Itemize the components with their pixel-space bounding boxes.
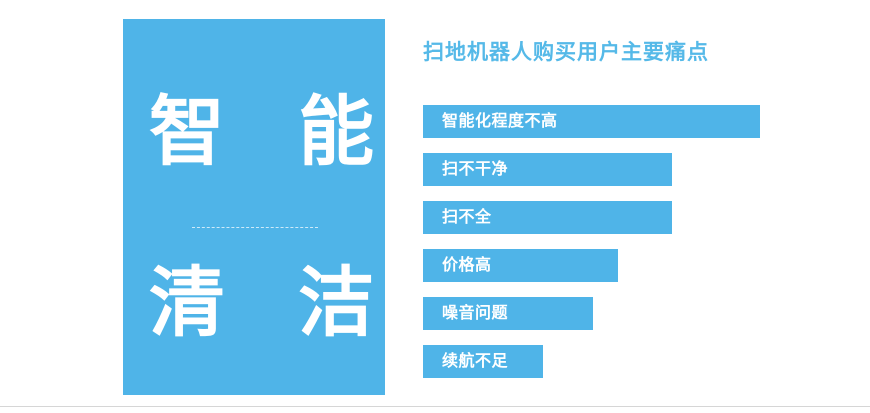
bar-续航不足: 续航不足 <box>423 345 543 378</box>
bar-label: 扫不干净 <box>423 162 508 178</box>
bar-噪音问题: 噪音问题 <box>423 297 593 330</box>
bar-row: 扫不全 <box>423 201 823 234</box>
bar-row: 续航不足 <box>423 345 823 378</box>
bar-chart: 智能化程度不高 扫不干净 扫不全 价格高 噪音问题 续航不足 <box>423 105 823 393</box>
bar-label: 扫不全 <box>423 210 492 226</box>
hero-panel: 智 能 清 洁 <box>123 19 385 395</box>
bottom-divider-rule <box>0 406 870 407</box>
bar-row: 价格高 <box>423 249 823 282</box>
bar-label: 噪音问题 <box>423 306 508 322</box>
bar-扫不干净: 扫不干净 <box>423 153 672 186</box>
bar-row: 智能化程度不高 <box>423 105 823 138</box>
bar-价格高: 价格高 <box>423 249 618 282</box>
bar-label: 价格高 <box>423 258 492 274</box>
bar-row: 扫不干净 <box>423 153 823 186</box>
bar-扫不全: 扫不全 <box>423 201 672 234</box>
infographic-canvas: 智 能 清 洁 扫地机器人购买用户主要痛点 智能化程度不高 扫不干净 扫不全 价… <box>0 0 870 413</box>
bar-label: 续航不足 <box>423 354 508 370</box>
hero-headline-line-2: 清 洁 <box>123 264 385 344</box>
bar-label: 智能化程度不高 <box>423 114 558 130</box>
chart-title: 扫地机器人购买用户主要痛点 <box>423 40 709 66</box>
bar-智能化程度不高: 智能化程度不高 <box>423 105 760 138</box>
hero-headline-line-1: 智 能 <box>123 93 385 173</box>
bar-row: 噪音问题 <box>423 297 823 330</box>
hero-dashed-divider <box>192 227 318 228</box>
